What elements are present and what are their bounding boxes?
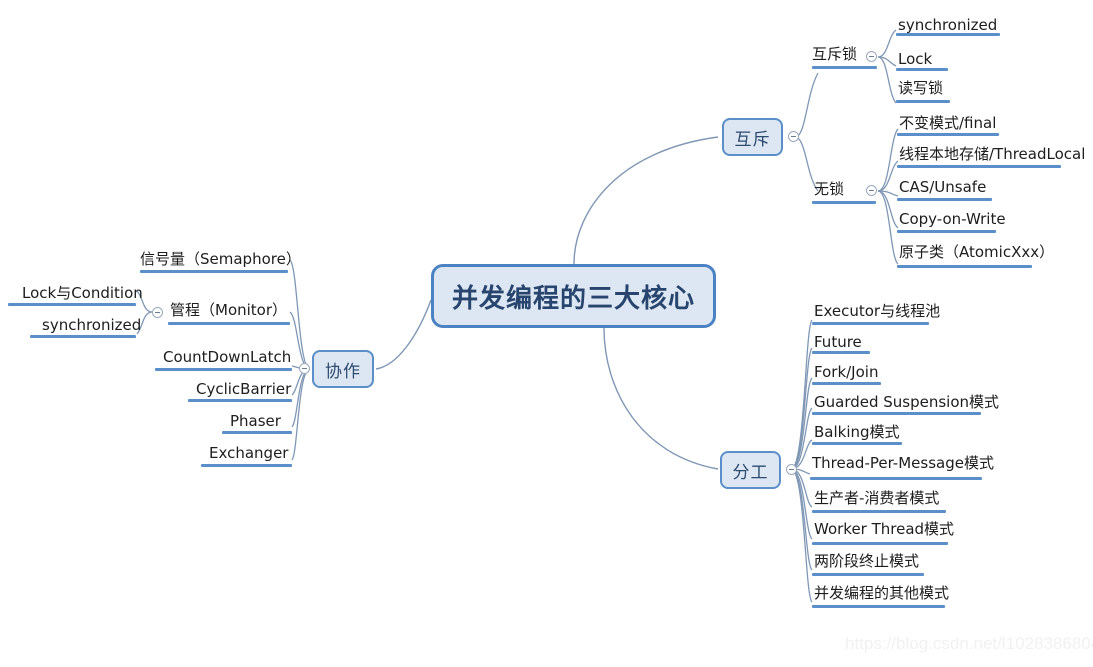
- underline-bar: [812, 573, 924, 576]
- leaf-producer-consumer[interactable]: 生产者-消费者模式: [814, 489, 939, 507]
- underline-bar: [812, 201, 876, 204]
- group-label-lockfree[interactable]: 无锁: [814, 180, 844, 198]
- root-node-label: 并发编程的三大核心: [452, 278, 695, 315]
- underline-bar: [897, 133, 999, 136]
- group-label-lock[interactable]: 互斥锁: [812, 45, 857, 63]
- underline-bar: [812, 442, 902, 445]
- underline-bar: [896, 33, 1000, 36]
- underline-bar: [8, 303, 136, 306]
- leaf-lock[interactable]: Lock: [898, 50, 932, 68]
- leaf-exchanger[interactable]: Exchanger: [209, 444, 288, 462]
- leaf-other-patterns[interactable]: 并发编程的其他模式: [814, 584, 949, 602]
- underline-bar: [140, 270, 288, 273]
- leaf-synchronized-monitor[interactable]: synchronized: [42, 316, 141, 334]
- underline-bar: [896, 100, 950, 103]
- branch-node-mutex-label: 互斥: [735, 125, 771, 150]
- underline-bar: [812, 605, 945, 608]
- leaf-lock-condition[interactable]: Lock与Condition: [22, 284, 143, 302]
- branch-node-cooperation[interactable]: 协作: [312, 350, 374, 388]
- underline-bar: [812, 66, 877, 69]
- leaf-thread-per-message[interactable]: Thread-Per-Message模式: [812, 454, 994, 472]
- root-node[interactable]: 并发编程的三大核心: [431, 264, 716, 328]
- leaf-semaphore[interactable]: 信号量（Semaphore）: [140, 250, 301, 268]
- leaf-two-phase-termination[interactable]: 两阶段终止模式: [814, 552, 919, 570]
- underline-bar: [812, 322, 929, 325]
- underline-bar: [897, 165, 1061, 168]
- leaf-readwrite-lock[interactable]: 读写锁: [898, 79, 943, 97]
- underline-bar: [155, 368, 292, 371]
- leaf-threadlocal[interactable]: 线程本地存储/ThreadLocal: [899, 145, 1085, 163]
- leaf-future[interactable]: Future: [814, 333, 862, 351]
- underline-bar: [896, 68, 948, 71]
- underline-bar: [810, 477, 982, 480]
- leaf-atomic-classes[interactable]: 原子类（AtomicXxx）: [899, 243, 1054, 261]
- collapse-toggle-division[interactable]: [786, 464, 797, 475]
- underline-bar: [897, 198, 992, 201]
- underline-bar: [812, 510, 946, 513]
- leaf-cyclicbarrier[interactable]: CyclicBarrier: [196, 380, 291, 398]
- leaf-synchronized[interactable]: synchronized: [898, 16, 997, 34]
- collapse-toggle-cooperation[interactable]: [299, 363, 310, 374]
- leaf-worker-thread[interactable]: Worker Thread模式: [814, 520, 954, 538]
- collapse-toggle-lock[interactable]: [866, 51, 877, 62]
- leaf-balking[interactable]: Balking模式: [814, 423, 900, 441]
- group-label-monitor[interactable]: 管程（Monitor）: [170, 301, 287, 319]
- leaf-phaser[interactable]: Phaser: [230, 412, 281, 430]
- underline-bar: [812, 351, 870, 354]
- underline-bar: [897, 230, 996, 233]
- collapse-toggle-monitor[interactable]: [152, 307, 163, 318]
- branch-node-division[interactable]: 分工: [720, 451, 781, 489]
- collapse-toggle-lockfree[interactable]: [866, 185, 877, 196]
- underline-bar: [168, 322, 290, 325]
- underline-bar: [222, 431, 292, 434]
- leaf-immutable-final[interactable]: 不变模式/final: [899, 114, 996, 132]
- leaf-executor-threadpool[interactable]: Executor与线程池: [814, 302, 940, 320]
- leaf-copy-on-write[interactable]: Copy-on-Write: [899, 210, 1006, 228]
- underline-bar: [201, 464, 292, 467]
- leaf-cas-unsafe[interactable]: CAS/Unsafe: [899, 178, 986, 196]
- branch-node-mutex[interactable]: 互斥: [722, 118, 783, 156]
- mindmap-canvas: 并发编程的三大核心 互斥 互斥锁 synchronized Lock 读写锁 无…: [0, 0, 1093, 667]
- underline-bar: [812, 542, 948, 545]
- underline-bar: [188, 399, 292, 402]
- underline-bar: [812, 382, 881, 385]
- collapse-toggle-mutex[interactable]: [788, 131, 799, 142]
- leaf-guarded-suspension[interactable]: Guarded Suspension模式: [814, 393, 999, 411]
- underline-bar: [30, 335, 136, 338]
- underline-bar: [897, 265, 1032, 268]
- branch-node-division-label: 分工: [733, 458, 769, 483]
- leaf-fork-join[interactable]: Fork/Join: [814, 363, 878, 381]
- leaf-countdownlatch[interactable]: CountDownLatch: [163, 348, 291, 366]
- underline-bar: [812, 412, 981, 415]
- watermark: https://blog.csdn.net/l1028386804: [845, 634, 1093, 654]
- branch-node-cooperation-label: 协作: [325, 357, 361, 382]
